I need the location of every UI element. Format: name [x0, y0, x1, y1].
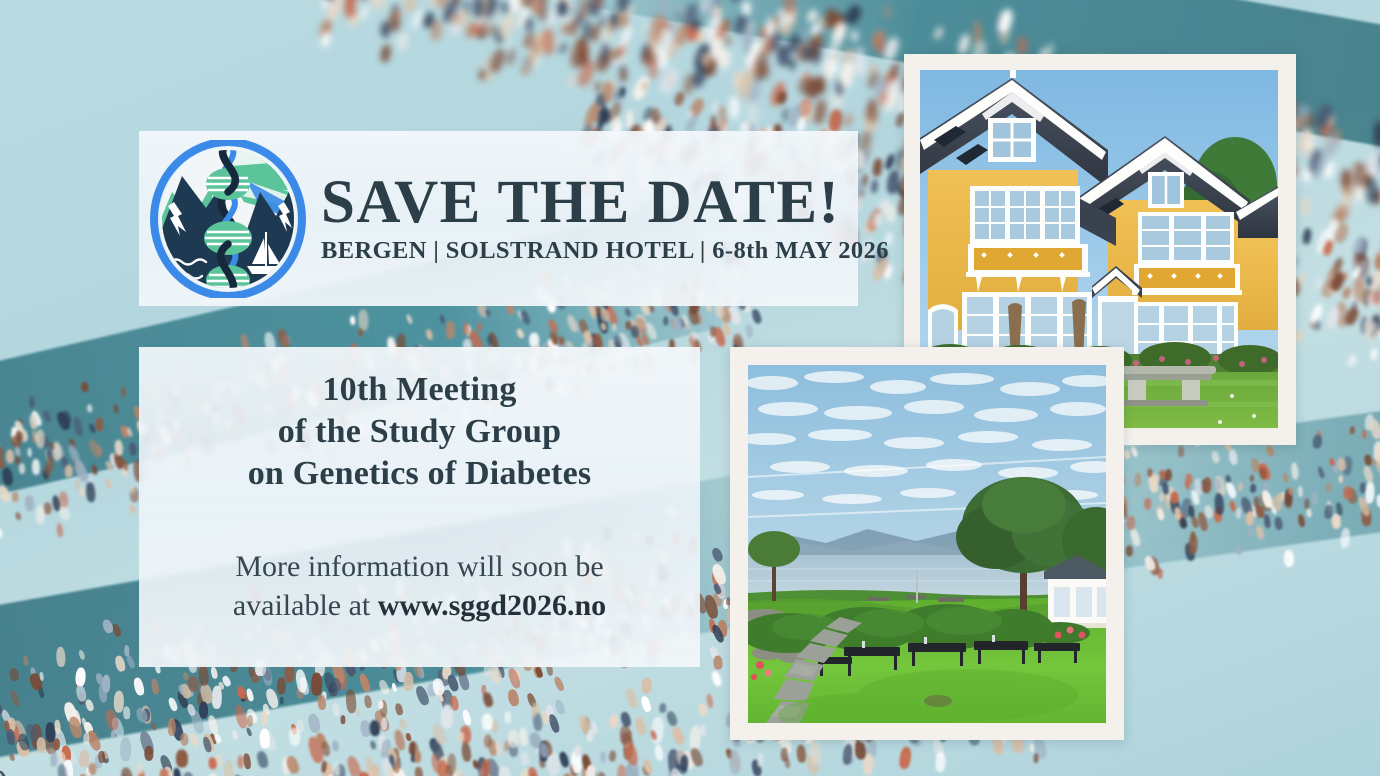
header-card: SAVE THE DATE! BERGEN | SOLSTRAND HOTEL … [139, 131, 858, 306]
meeting-title-line: on Genetics of Diabetes [248, 453, 592, 495]
meeting-title-line: of the Study Group [248, 411, 592, 453]
meeting-title-line: 10th Meeting [248, 369, 592, 411]
event-location-date: BERGEN | SOLSTRAND HOTEL | 6-8th MAY 202… [321, 237, 889, 265]
more-info-text: More information will soon be available … [185, 547, 655, 625]
sggd-logo [139, 131, 317, 306]
website-link[interactable]: www.sggd2026.no [378, 589, 606, 622]
fjord-lawn-photo [748, 365, 1106, 723]
save-the-date-poster: SAVE THE DATE! BERGEN | SOLSTRAND HOTEL … [0, 0, 1380, 776]
header-text-block: SAVE THE DATE! BERGEN | SOLSTRAND HOTEL … [317, 172, 919, 265]
info-card: 10th Meeting of the Study Group on Genet… [139, 347, 700, 667]
fjord-lawn-photo-frame [730, 347, 1124, 740]
page-title: SAVE THE DATE! [321, 172, 889, 233]
meeting-title: 10th Meeting of the Study Group on Genet… [248, 369, 592, 495]
sggd-logo-icon [148, 140, 308, 298]
